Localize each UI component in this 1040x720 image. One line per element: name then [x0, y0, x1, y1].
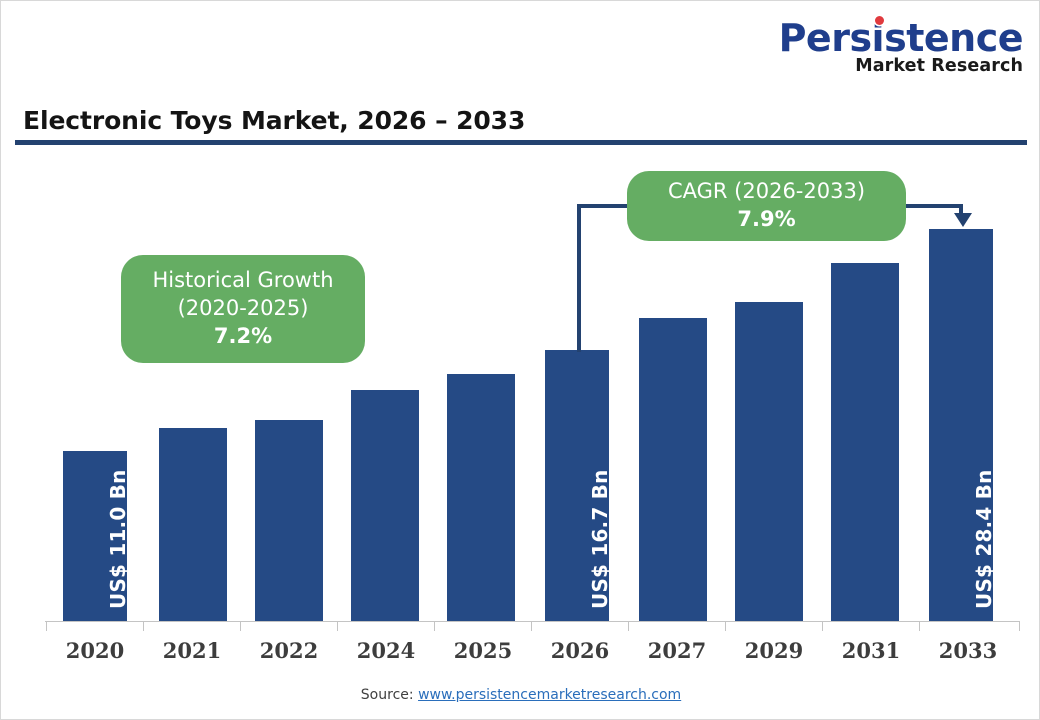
bar-value-label-2033: US$ 28.4 Bn: [972, 469, 996, 609]
historical-growth-value: 7.2%: [214, 323, 272, 351]
bar-2022: [255, 420, 323, 621]
historical-growth-callout: Historical Growth (2020-2025) 7.2%: [121, 255, 365, 363]
x-axis-tick-6: [628, 621, 629, 631]
x-axis-label-2026: 2026: [531, 638, 629, 663]
x-axis-line: [45, 621, 1020, 622]
cagr-value: 7.9%: [737, 206, 795, 234]
cagr-connector-arrowhead-icon: [954, 213, 972, 227]
x-axis-tick-7: [725, 621, 726, 631]
bar-2025: [447, 374, 515, 621]
bar-2021: [159, 428, 227, 621]
cagr-line1: CAGR (2026-2033): [668, 178, 865, 206]
historical-growth-line1: Historical Growth: [152, 267, 333, 295]
x-axis-label-2025: 2025: [434, 638, 532, 663]
source-footer: Source: www.persistencemarketresearch.co…: [1, 687, 1040, 703]
bar-2031: [831, 263, 899, 621]
x-axis-label-2033: 2033: [919, 638, 1017, 663]
bar-2029: [735, 302, 803, 621]
x-axis-tick-9: [919, 621, 920, 631]
bar-2024: [351, 390, 419, 621]
cagr-connector-left-horizontal: [577, 204, 632, 208]
cagr-callout: CAGR (2026-2033) 7.9%: [627, 171, 906, 241]
chart-page: Persistence Market Research Electronic T…: [0, 0, 1040, 720]
x-axis-label-2031: 2031: [822, 638, 920, 663]
historical-growth-line2: (2020-2025): [178, 295, 309, 323]
x-axis-tick-2: [240, 621, 241, 631]
x-axis-tick-4: [434, 621, 435, 631]
x-axis-label-2022: 2022: [240, 638, 338, 663]
x-axis-tick-1: [143, 621, 144, 631]
x-axis-label-2021: 2021: [143, 638, 241, 663]
source-label: Source:: [361, 687, 414, 703]
x-axis-label-2020: 2020: [46, 638, 144, 663]
bar-2027: [639, 318, 707, 621]
bar-value-label-2026: US$ 16.7 Bn: [588, 469, 612, 609]
bar-chart-plot-area: US$ 11.0 BnUS$ 16.7 BnUS$ 28.4 Bn 202020…: [1, 1, 1040, 720]
source-url-link[interactable]: www.persistencemarketresearch.com: [418, 687, 681, 703]
x-axis-tick-0: [46, 621, 47, 631]
x-axis-tick-3: [337, 621, 338, 631]
cagr-connector-left-vertical: [577, 204, 581, 352]
x-axis-label-2027: 2027: [628, 638, 726, 663]
bar-value-label-2020: US$ 11.0 Bn: [106, 469, 130, 609]
x-axis-tick-10: [1019, 621, 1020, 631]
cagr-connector-right-horizontal: [901, 204, 963, 208]
x-axis-label-2029: 2029: [725, 638, 823, 663]
x-axis-label-2024: 2024: [337, 638, 435, 663]
x-axis-tick-8: [822, 621, 823, 631]
x-axis-tick-5: [531, 621, 532, 631]
